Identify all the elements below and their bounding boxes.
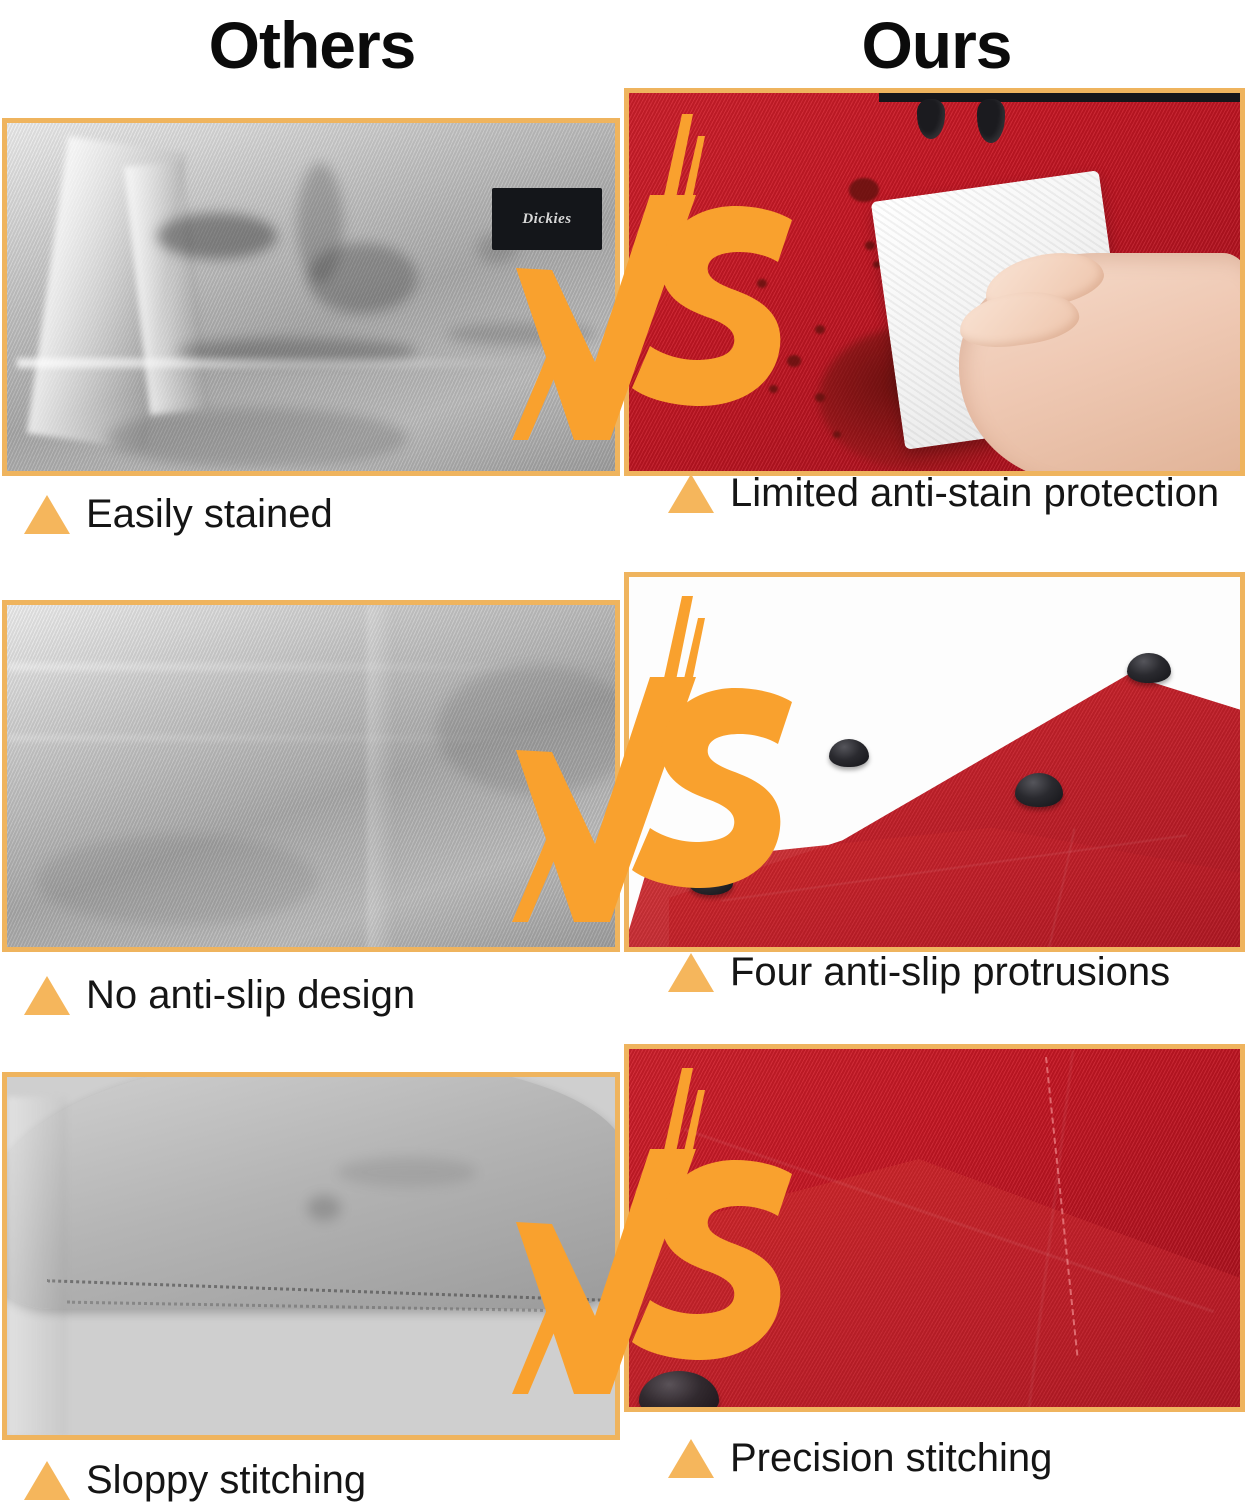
caption-ours-row-2: Four anti-slip protrusions xyxy=(668,952,1170,992)
column-title-others: Others xyxy=(0,2,624,88)
comparison-infographic: Others Ours Dickies xyxy=(0,0,1249,1500)
ours-image-row-1 xyxy=(624,88,1245,476)
anti-slip-stud xyxy=(689,865,733,895)
ours-image-row-3 xyxy=(624,1044,1245,1412)
caption-text: Sloppy stitching xyxy=(86,1460,366,1500)
others-image-row-3 xyxy=(2,1072,620,1440)
anti-slip-stud xyxy=(1015,773,1063,807)
anti-slip-stud xyxy=(829,739,869,767)
caption-text: Easily stained xyxy=(86,494,333,534)
caption-text: No anti-slip design xyxy=(86,975,415,1015)
column-headers: Others Ours xyxy=(0,0,1249,92)
triangle-up-icon xyxy=(24,495,70,534)
triangle-up-icon xyxy=(24,1461,70,1500)
caption-text: Four anti-slip protrusions xyxy=(730,952,1170,992)
caption-text: Limited anti-stain protection xyxy=(730,473,1219,513)
others-image-row-1: Dickies xyxy=(2,118,620,476)
triangle-up-icon xyxy=(668,1439,714,1478)
brand-label-tag: Dickies xyxy=(492,188,602,250)
caption-others-row-1: Easily stained xyxy=(24,494,333,534)
triangle-up-icon xyxy=(24,976,70,1015)
caption-others-row-3: Sloppy stitching xyxy=(24,1460,366,1500)
caption-others-row-2: No anti-slip design xyxy=(24,975,415,1015)
others-image-row-2 xyxy=(2,600,620,952)
column-title-ours: Ours xyxy=(624,2,1249,88)
anti-slip-stud xyxy=(1127,653,1171,683)
brand-label-text: Dickies xyxy=(522,211,571,228)
caption-text: Precision stitching xyxy=(730,1438,1052,1478)
ours-image-row-2 xyxy=(624,572,1245,952)
caption-ours-row-1: Limited anti-stain protection xyxy=(668,473,1219,513)
caption-ours-row-3: Precision stitching xyxy=(668,1438,1052,1478)
triangle-up-icon xyxy=(668,953,714,992)
triangle-up-icon xyxy=(668,474,714,513)
